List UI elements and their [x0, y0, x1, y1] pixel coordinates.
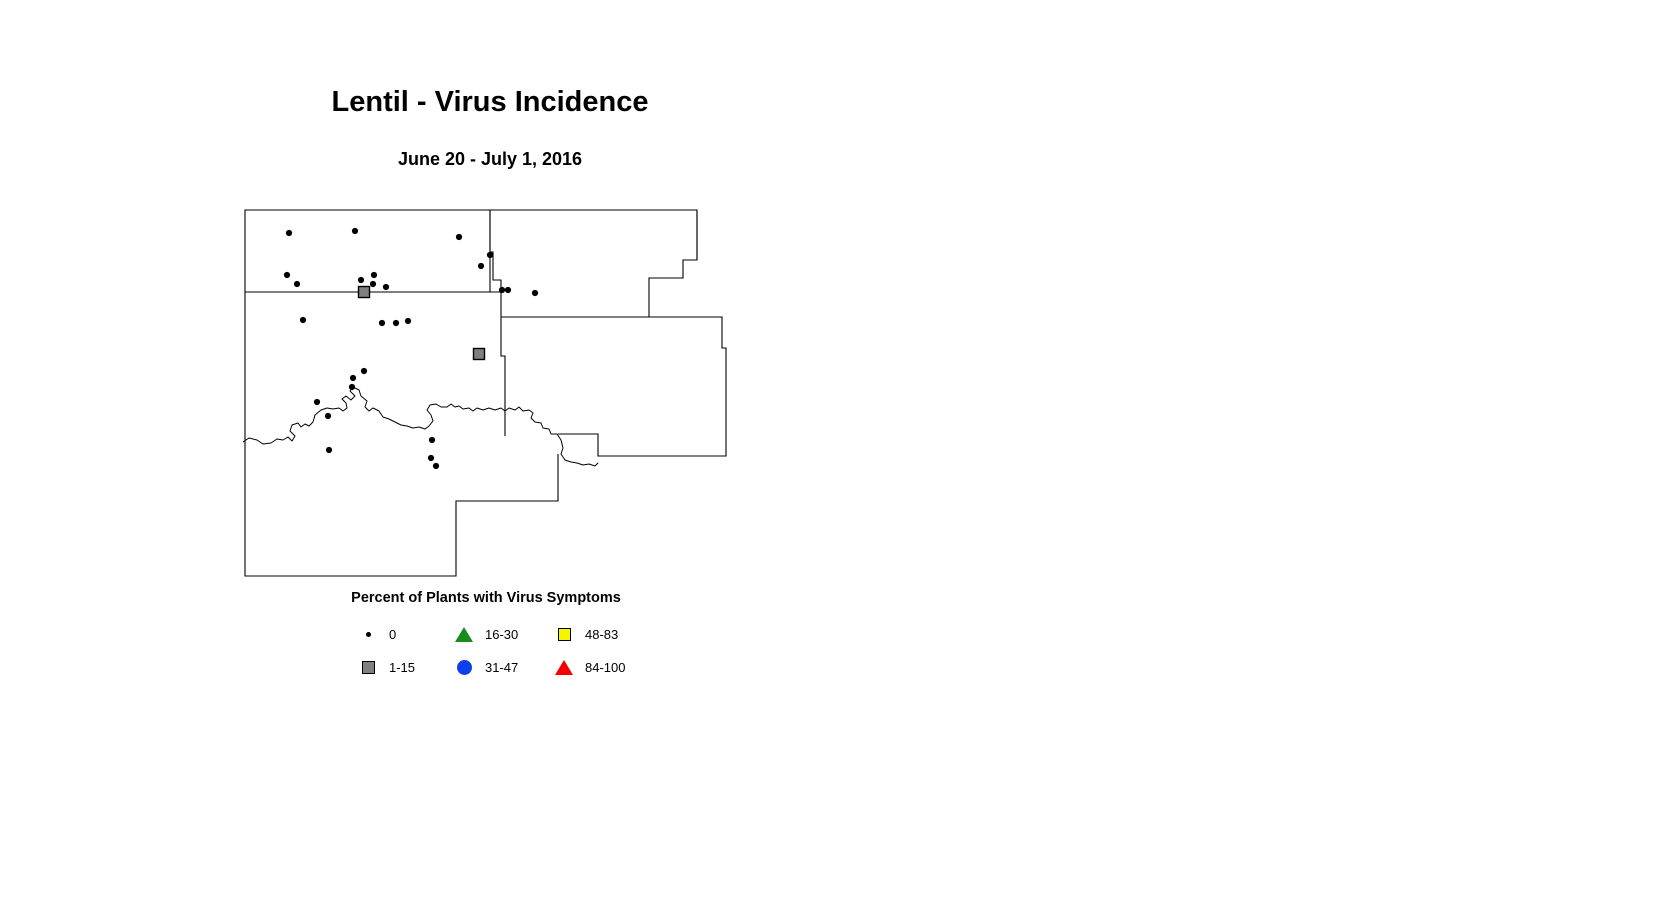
legend-label-16-30: 16-30 [485, 627, 518, 642]
county-east-step [558, 434, 726, 456]
legend-item-84-100[interactable]: 84-100 [551, 651, 625, 684]
map-point-0 [428, 455, 434, 461]
county-nw [245, 210, 490, 292]
map-point-0 [370, 281, 376, 287]
map-point-0 [532, 290, 538, 296]
river-path [243, 387, 557, 444]
county-ne [490, 210, 697, 317]
map-point-0 [383, 284, 389, 290]
map-point-0 [326, 447, 332, 453]
legend-row-top: 0 16-30 48-83 [355, 618, 745, 651]
legend-item-0[interactable]: 0 [355, 618, 396, 651]
legend-grid: 0 16-30 48-83 1-15 31-47 [355, 618, 745, 684]
map-point-0 [505, 287, 511, 293]
map-point-0 [361, 368, 367, 374]
legend-row-bottom: 1-15 31-47 84-100 [355, 651, 745, 684]
legend-item-48-83[interactable]: 48-83 [551, 618, 618, 651]
legend-title: Percent of Plants with Virus Symptoms [243, 590, 729, 606]
map-point-0 [349, 384, 355, 390]
map-point-0 [429, 437, 435, 443]
map-point-0 [352, 228, 358, 234]
legend-item-1-15[interactable]: 1-15 [355, 651, 415, 684]
map-boundaries [245, 210, 726, 576]
legend-label-84-100: 84-100 [585, 660, 625, 675]
map-point-0 [358, 277, 364, 283]
map-point-0 [350, 375, 356, 381]
legend-label-0: 0 [389, 627, 396, 642]
map-point-0 [371, 272, 377, 278]
map-point-0 [284, 272, 290, 278]
map-point-0 [300, 317, 306, 323]
legend-label-31-47: 31-47 [485, 660, 518, 675]
map-point-1-15 [474, 349, 485, 360]
legend-label-1-15: 1-15 [389, 660, 415, 675]
county-divider-vertical [501, 317, 505, 436]
legend-symbol-red-triangle-icon [551, 660, 577, 675]
river-boundary [243, 387, 598, 466]
county-sw [245, 292, 558, 576]
map-point-layer [284, 228, 538, 469]
legend-label-48-83: 48-83 [585, 627, 618, 642]
river-path-lower [557, 434, 598, 466]
page-subtitle: June 20 - July 1, 2016 [0, 150, 980, 168]
map-point-0 [487, 252, 493, 258]
map-point-0 [478, 263, 484, 269]
map-panel [243, 208, 729, 582]
map-point-0 [456, 234, 462, 240]
map-point-0 [314, 399, 320, 405]
map-point-0 [405, 318, 411, 324]
map-point-0 [393, 320, 399, 326]
map-point-0 [294, 281, 300, 287]
legend-symbol-gray-square-icon [355, 661, 381, 674]
legend-symbol-dot-icon [355, 632, 381, 637]
map-point-0 [325, 413, 331, 419]
legend-item-31-47[interactable]: 31-47 [451, 651, 518, 684]
legend-item-16-30[interactable]: 16-30 [451, 618, 518, 651]
map-point-0 [379, 320, 385, 326]
chart-canvas: Lentil - Virus Incidence June 20 - July … [0, 0, 1673, 900]
legend-symbol-blue-circle-icon [451, 660, 477, 675]
page-title: Lentil - Virus Incidence [0, 88, 980, 117]
map-point-0 [499, 287, 505, 293]
county-map [243, 208, 729, 582]
map-point-0 [286, 230, 292, 236]
map-point-1-15 [359, 287, 370, 298]
map-legend: Percent of Plants with Virus Symptoms 0 … [243, 590, 729, 680]
map-point-0 [433, 463, 439, 469]
county-east-upper [501, 317, 726, 456]
legend-symbol-yellow-square-icon [551, 628, 577, 641]
legend-symbol-green-triangle-icon [451, 627, 477, 642]
